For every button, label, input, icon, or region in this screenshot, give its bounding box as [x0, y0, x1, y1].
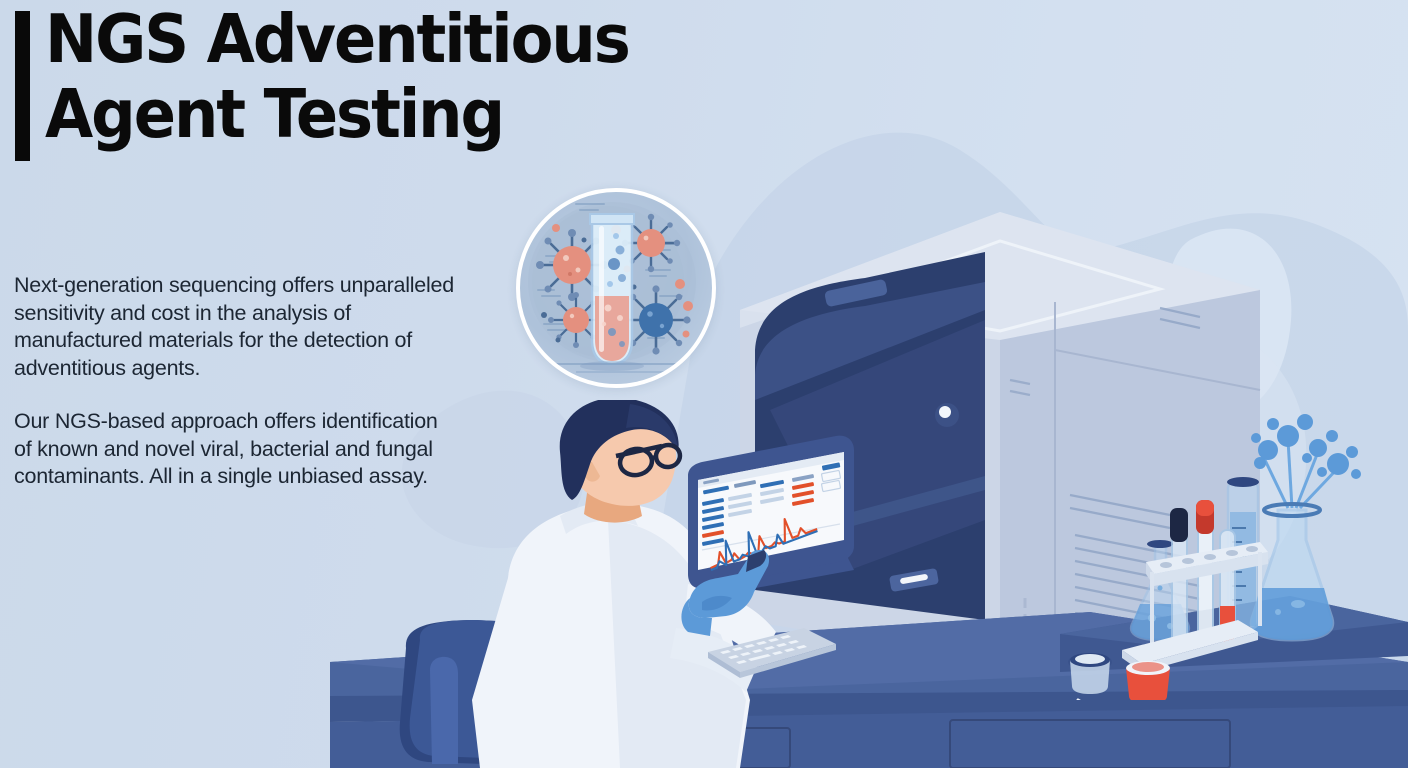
poster-canvas: NGS Adventitious Agent Testing Next-gene… [0, 0, 1408, 768]
paragraph-1: Next-generation sequencing offers unpara… [14, 272, 454, 382]
erlenmeyer-flask-with-molecules [1251, 414, 1361, 640]
test-tube [590, 214, 634, 364]
title-line-1: NGS Adventitious [45, 2, 696, 77]
test-tube-virus-badge [516, 188, 716, 388]
paragraph-2: Our NGS-based approach offers identifica… [14, 408, 454, 491]
badge-illustration [520, 192, 712, 384]
keyboard[interactable] [700, 622, 840, 684]
body-copy: Next-generation sequencing offers unpara… [14, 272, 454, 491]
page-title: NGS Adventitious Agent Testing [45, 2, 696, 152]
glassware-group [1060, 400, 1400, 700]
title-line-2: Agent Testing [45, 77, 696, 152]
header: NGS Adventitious Agent Testing [0, 0, 760, 180]
title-accent-bar [15, 11, 30, 161]
